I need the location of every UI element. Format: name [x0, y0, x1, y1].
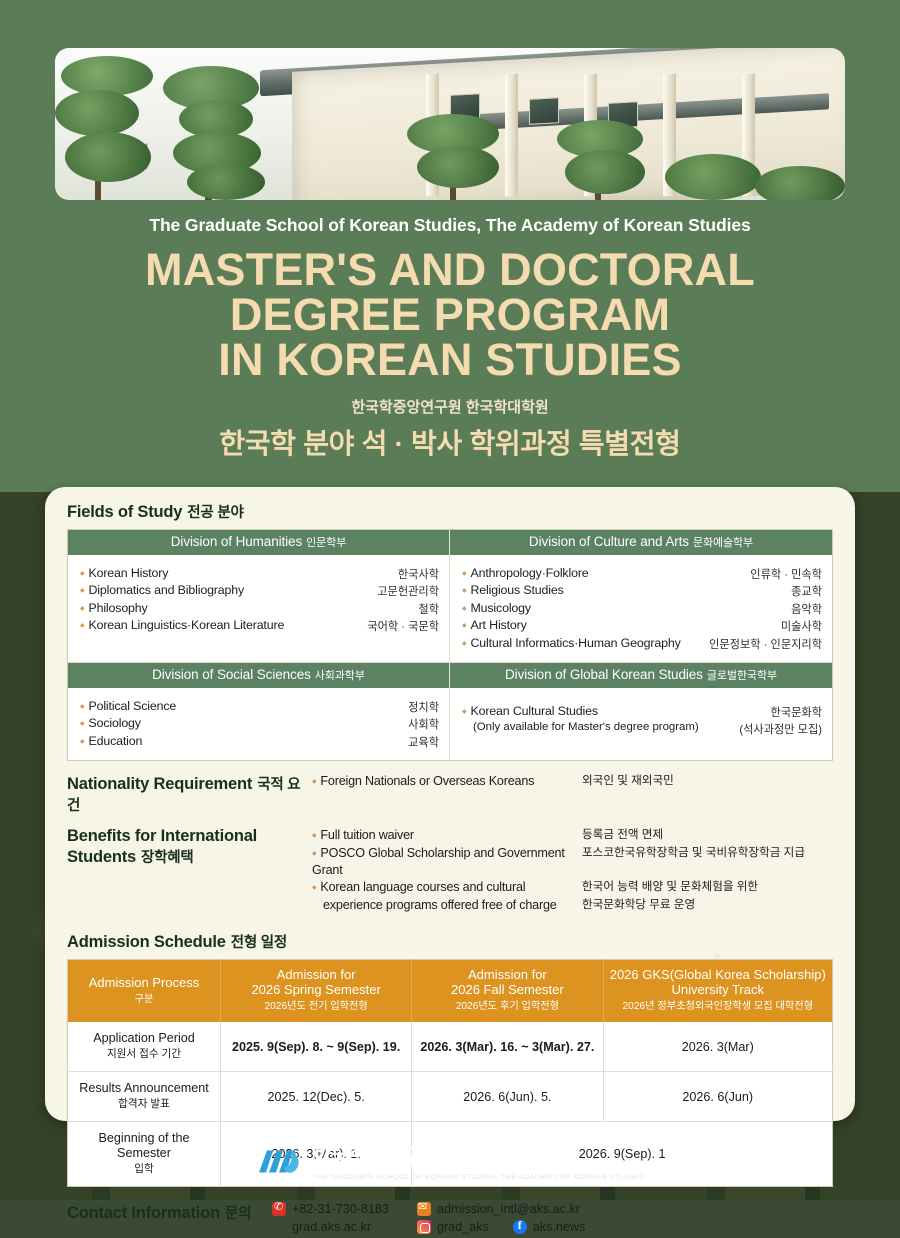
field-note-en: (Only available for Master's degree prog… [462, 721, 699, 733]
field-name-en: Korean History [80, 566, 168, 580]
field-name-en: Art History [462, 618, 527, 632]
field-row: Education교육학 [80, 734, 439, 750]
field-row: Philosophy철학 [80, 601, 439, 617]
cell-spring-results: 2025. 12(Dec). 5. [221, 1072, 412, 1122]
campus-building-photo [55, 48, 845, 200]
table-header-row: Admission Process 구분 Admission for 2026 … [68, 960, 833, 1023]
poster-headline: The Graduate School of Korean Studies, T… [0, 215, 900, 462]
field-row: Korean History한국사학 [80, 566, 439, 582]
benefit-item-kr: 등록금 전액 면제 [582, 827, 663, 844]
field-row: Art History미술사학 [462, 618, 822, 634]
benefit-item: POSCO Global Scholarship and Government … [312, 845, 833, 878]
division-header-culture-arts: Division of Culture and Arts문화예술학부 [450, 530, 832, 555]
benefit-item-continued: experience programs offered free of char… [312, 897, 833, 913]
institution-supertitle: The Graduate School of Korean Studies, T… [0, 215, 900, 236]
row-label-results-announcement: Results Announcement 합격자 발표 [68, 1072, 221, 1122]
division-body-social-sciences: Political Science정치학 Sociology사회학 Educat… [68, 688, 450, 760]
division-body-culture-arts: Anthropology·Folklore인류학 · 민속학 Religious… [450, 555, 832, 663]
field-name-en: Korean Linguistics·Korean Literature [80, 618, 284, 632]
column-title-kr: 2026년 정부초청외국인장학생 모집 대학전형 [608, 999, 829, 1014]
fields-of-study-table: Division of Humanities인문학부 Division of C… [67, 529, 833, 761]
field-name-kr: 정치학 [400, 699, 439, 715]
division-title-en: Division of Social Sciences [152, 667, 311, 682]
facebook-icon[interactable] [513, 1220, 527, 1234]
division-header-global-korean-studies: Division of Global Korean Studies글로벌한국학부 [450, 663, 832, 688]
field-name-kr: 한국문화학 [763, 704, 822, 720]
content-card: Fields of Study전공 분야 Division of Humanit… [45, 487, 855, 1121]
field-name-en: Korean Cultural Studies [462, 704, 598, 718]
field-row: Diplomatics and Bibliography고문헌관리학 [80, 583, 439, 599]
field-row: Political Science정치학 [80, 699, 439, 715]
field-row: Korean Linguistics·Korean Literature국어학 … [80, 618, 439, 634]
benefit-item-en: Full tuition waiver [312, 827, 582, 844]
admission-schedule-heading: Admission Schedule전형 일정 [67, 931, 833, 952]
column-title-en: 2026 GKS(Global Korea Scholarship) [610, 967, 826, 982]
fields-heading-en: Fields of Study [67, 503, 182, 521]
cell-fall-application-period: 2026. 3(Mar). 16. ~ 3(Mar). 27. [412, 1022, 603, 1072]
field-name-kr: 국어학 · 국문학 [359, 618, 439, 634]
division-body-humanities: Korean History한국사학 Diplomatics and Bibli… [68, 555, 450, 663]
field-name-kr: 종교학 [783, 583, 822, 599]
field-row: Anthropology·Folklore인류학 · 민속학 [462, 566, 822, 582]
table-row: Application Period 지원서 접수 기간 2025. 9(Sep… [68, 1022, 833, 1072]
benefit-item: Full tuition waiver 등록금 전액 면제 [312, 827, 833, 844]
contact-heading-en: Contact Information [67, 1204, 220, 1222]
field-name-en: Cultural Informatics·Human Geography [462, 636, 681, 650]
photo-pine-foliage [187, 164, 265, 200]
contact-phone-number: +82-31-730-8183 [292, 1202, 389, 1216]
contact-phone-row[interactable]: +82-31-730-8183 [272, 1202, 389, 1216]
column-title-en-line2: 2026 Spring Semester [251, 982, 380, 997]
nationality-heading: Nationality Requirement국적 요건 [67, 773, 312, 815]
cell-spring-application-period: 2025. 9(Sep). 8. ~ 9(Sep). 19. [221, 1022, 412, 1072]
column-header-spring: Admission for 2026 Spring Semester 2026년… [221, 960, 412, 1023]
benefit-item-en: POSCO Global Scholarship and Government … [312, 845, 582, 878]
division-header-social-sciences: Division of Social Sciences사회과학부 [68, 663, 450, 688]
field-row: Religious Studies종교학 [462, 583, 822, 599]
contact-email-row[interactable]: admission_intl@aks.ac.kr [417, 1202, 585, 1216]
photo-pine-foliage [565, 150, 645, 194]
row-label-kr: 합격자 발표 [72, 1097, 216, 1112]
fields-heading-kr: 전공 분야 [187, 505, 243, 521]
nationality-item-en: Foreign Nationals or Overseas Koreans [312, 773, 582, 790]
table-row: Results Announcement 합격자 발표 2025. 12(Dec… [68, 1072, 833, 1122]
photo-pine-foliage [665, 154, 761, 200]
photo-window [529, 97, 559, 125]
field-name-kr: 한국사학 [390, 566, 439, 582]
field-row: Cultural Informatics·Human Geography인문정보… [462, 636, 822, 652]
field-note-kr: (석사과정만 모집) [731, 721, 822, 737]
benefit-item: Korean language courses and cultural 한국어… [312, 879, 833, 896]
division-title-kr: 문화예술학부 [693, 537, 753, 549]
benefit-item-kr-line2: 한국문화학당 무료 운영 [582, 897, 695, 913]
page-title-line-2: DEGREE PROGRAM [0, 292, 900, 337]
footer-logo-korean: 한국학중앙연구원 한국학대학원 [312, 1140, 644, 1170]
field-name-kr: 미술사학 [773, 618, 822, 634]
column-header-fall: Admission for 2026 Fall Semester 2026년도 … [412, 960, 603, 1023]
division-title-kr: 인문학부 [306, 537, 346, 549]
nationality-item: Foreign Nationals or Overseas Koreans 외국… [312, 773, 833, 790]
field-name-en: Philosophy [80, 601, 148, 615]
division-title-kr: 사회과학부 [315, 670, 365, 682]
field-row: Sociology사회학 [80, 716, 439, 732]
photo-pine-foliage [755, 166, 845, 200]
column-header-process: Admission Process 구분 [68, 960, 221, 1023]
field-name-kr: 철학 [410, 601, 439, 617]
field-name-en: Diplomatics and Bibliography [80, 583, 244, 597]
contact-website-url: grad.aks.ac.kr [292, 1220, 371, 1234]
page-title-line-1: MASTER'S AND DOCTORAL [0, 247, 900, 292]
contact-social-row: grad_aks aks.news [417, 1220, 585, 1234]
field-name-kr: 사회학 [400, 716, 439, 732]
field-row: Musicology음악학 [462, 601, 822, 617]
field-name-kr: 음악학 [783, 601, 822, 617]
benefits-section: Benefits for International Students장학혜택 … [67, 827, 833, 914]
contact-email-address: admission_intl@aks.ac.kr [437, 1202, 580, 1216]
nationality-item-kr: 외국인 및 재외국민 [582, 773, 674, 790]
column-title-kr: 구분 [72, 992, 216, 1007]
phone-icon [272, 1202, 286, 1216]
contact-heading-kr: 문의 [225, 1206, 251, 1222]
field-name-kr: 고문헌관리학 [369, 583, 439, 599]
cell-gks-results: 2026. 6(Jun) [603, 1072, 833, 1122]
field-name-en: Education [80, 734, 142, 748]
benefit-item-kr: 포스코한국유학장학금 및 국비유학장학금 지급 [582, 845, 805, 878]
contact-facebook-handle: aks.news [533, 1220, 586, 1234]
field-name-kr: 인문정보학 · 인문지리학 [701, 636, 822, 652]
field-row: Korean Cultural Studies한국문화학 [462, 704, 822, 720]
division-header-humanities: Division of Humanities인문학부 [68, 530, 450, 555]
cell-gks-application-period: 2026. 3(Mar) [603, 1022, 833, 1072]
row-label-en: Results Announcement [79, 1081, 209, 1095]
footer-logo-bar: 한국학중앙연구원 한국학대학원 THE GRADUATE SCHOOL OF K… [0, 1121, 900, 1200]
footer-logo-text: 한국학중앙연구원 한국학대학원 THE GRADUATE SCHOOL OF K… [312, 1140, 644, 1181]
contact-details: +82-31-730-8183 grad.aks.ac.kr admission… [272, 1202, 585, 1238]
cell-fall-results: 2026. 6(Jun). 5. [412, 1072, 603, 1122]
field-name-en: Anthropology·Folklore [462, 566, 589, 580]
division-body-global-korean-studies: Korean Cultural Studies한국문화학 (Only avail… [450, 688, 832, 760]
nationality-heading-en: Nationality Requirement [67, 775, 252, 793]
contact-instagram-handle: grad_aks [437, 1220, 489, 1234]
row-label-en: Application Period [93, 1031, 195, 1045]
field-name-en: Musicology [462, 601, 531, 615]
fields-of-study-heading: Fields of Study전공 분야 [67, 501, 833, 522]
nationality-items: Foreign Nationals or Overseas Koreans 외국… [312, 773, 833, 815]
field-name-en: Sociology [80, 716, 141, 730]
nationality-requirement-section: Nationality Requirement국적 요건 Foreign Nat… [67, 773, 833, 815]
column-title-en: Admission for [277, 967, 356, 982]
contact-column-left: +82-31-730-8183 grad.aks.ac.kr [272, 1202, 389, 1238]
division-title-en: Division of Culture and Arts [529, 534, 689, 549]
korean-institution-name: 한국학중앙연구원 한국학대학원 [0, 396, 900, 417]
benefits-items: Full tuition waiver 등록금 전액 면제 POSCO Glob… [312, 827, 833, 914]
column-title-en-line2: 2026 Fall Semester [451, 982, 564, 997]
benefit-item-en-line2: experience programs offered free of char… [312, 897, 582, 913]
contact-column-right: admission_intl@aks.ac.kr grad_aks aks.ne… [417, 1202, 585, 1238]
benefits-heading-kr: 장학혜택 [141, 850, 194, 866]
division-title-en: Division of Humanities [171, 534, 302, 549]
photo-pine-foliage [417, 146, 499, 188]
schedule-heading-kr: 전형 일정 [231, 935, 287, 951]
contact-website-row[interactable]: grad.aks.ac.kr [272, 1220, 389, 1234]
column-title-kr: 2026년도 전기 입학전형 [225, 999, 407, 1014]
benefits-heading: Benefits for International Students장학혜택 [67, 827, 312, 914]
column-title-en-line2: University Track [672, 982, 764, 997]
page-title-line-3: IN KOREAN STUDIES [0, 337, 900, 382]
photo-pine-foliage [65, 132, 151, 182]
row-label-kr: 지원서 접수 기간 [72, 1047, 216, 1062]
column-title-en: Admission for [468, 967, 547, 982]
instagram-icon[interactable] [417, 1220, 431, 1234]
field-note-row: (Only available for Master's degree prog… [462, 721, 822, 737]
field-name-en: Religious Studies [462, 583, 564, 597]
field-name-en: Political Science [80, 699, 176, 713]
division-title-kr: 글로벌한국학부 [707, 670, 777, 682]
row-label-application-period: Application Period 지원서 접수 기간 [68, 1022, 221, 1072]
field-name-kr: 인류학 · 민속학 [742, 566, 822, 582]
column-title-kr: 2026년도 후기 입학전형 [416, 999, 598, 1014]
column-header-gks: 2026 GKS(Global Korea Scholarship) Unive… [603, 960, 833, 1023]
aks-logo-icon [256, 1144, 302, 1178]
contact-heading: Contact Information문의 [67, 1202, 272, 1223]
benefit-item-kr: 한국어 능력 배양 및 문화체험을 위한 [582, 879, 758, 896]
photo-pine-foliage [55, 90, 139, 136]
footer-logo-english: THE GRADUATE SCHOOL OF KOREAN STUDIES, T… [312, 1172, 644, 1181]
column-title-en: Admission Process [89, 975, 200, 990]
field-name-kr: 교육학 [400, 734, 439, 750]
korean-program-title: 한국학 분야 석 · 박사 학위과정 특별전형 [0, 422, 900, 462]
division-title-en: Division of Global Korean Studies [505, 667, 703, 682]
benefit-item-en: Korean language courses and cultural [312, 879, 582, 896]
envelope-icon [417, 1202, 431, 1216]
schedule-heading-en: Admission Schedule [67, 933, 226, 951]
contact-information-section: Contact Information문의 +82-31-730-8183 gr… [67, 1202, 833, 1238]
photo-column [505, 74, 518, 197]
